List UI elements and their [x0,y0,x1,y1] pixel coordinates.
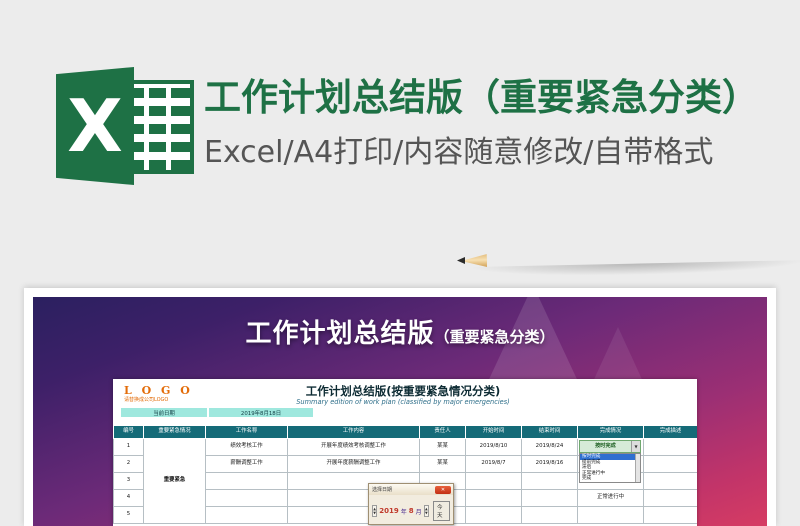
spreadsheet-preview[interactable]: L O G O 请替换成公司LOGO 工作计划总结版(按重要紧急情况分类) Su… [113,379,697,526]
excel-icon: X [56,62,194,188]
col-header-work-content[interactable]: 工作内容 [288,426,420,439]
cell-start[interactable]: 2019/8/10 [466,439,522,456]
col-header-owner[interactable]: 责任人 [420,426,466,439]
cell-end[interactable] [522,507,578,524]
pencil-lead [457,257,465,264]
cell-work-name[interactable]: 薪酬调整工作 [206,456,288,473]
cell-work-content[interactable]: 开展年度绩效考核调整工作 [288,439,420,456]
preview-headline: 工作计划总结版（重要紧急分类） [33,313,767,350]
cell-desc[interactable] [644,439,698,456]
cell-desc[interactable] [644,456,698,473]
chevron-down-icon[interactable]: ▼ [631,441,640,452]
page-title: 工作计划总结版（重要紧急分类） [204,72,764,124]
col-header-no[interactable]: 编号 [114,426,144,439]
excel-icon-letter: X [56,67,134,185]
table-row[interactable]: 1 重要紧急 绩效考核工作 开展年度绩效考核调整工作 某某 2019/8/10 … [114,439,698,456]
year-value: 2019 [379,507,398,515]
date-picker-body: ▲ ▼ 2019 年 8 月 ▲ ▼ 今天 [369,495,453,526]
year-stepper[interactable]: ▲ ▼ [372,505,377,517]
close-icon[interactable]: ✕ [435,486,451,494]
excel-icon-grid [124,80,194,174]
cell-end[interactable]: 2019/8/16 [522,456,578,473]
current-date-value[interactable]: 2019年8月18日 [208,407,314,418]
cell-no[interactable]: 5 [114,507,144,524]
date-picker-dialog[interactable]: 选择日期 ✕ ▲ ▼ 2019 年 8 月 ▲ [368,483,454,525]
current-date-row: 当前日期 2019年8月18日 [120,407,314,418]
preview-headline-main: 工作计划总结版 [245,319,434,349]
col-header-start[interactable]: 开始时间 [466,426,522,439]
cell-end[interactable] [522,490,578,507]
month-value: 8 [409,507,414,515]
cell-start[interactable] [466,490,522,507]
preview-card: 工作计划总结版（重要紧急分类） L O G O 请替换成公司LOGO 工作计划总… [24,288,776,526]
col-header-priority[interactable]: 重要紧急情况 [144,426,206,439]
current-date-label: 当前日期 [120,407,208,418]
cell-no[interactable]: 2 [114,456,144,473]
preview-canvas: 工作计划总结版（重要紧急分类） L O G O 请替换成公司LOGO 工作计划总… [33,297,767,526]
month-stepper[interactable]: ▲ ▼ [424,505,429,517]
cell-status-dropdown[interactable]: 按时完成 ▼ 按时完成 提前完成 滞后 正常进行中 完成 [578,439,644,456]
today-button[interactable]: 今天 [433,501,450,521]
cell-work-name[interactable] [206,490,288,507]
cell-start[interactable] [466,507,522,524]
cell-work-name[interactable] [206,507,288,524]
cell-start[interactable]: 2019/8/7 [466,456,522,473]
preview-headline-paren: （重要紧急分类） [435,328,555,346]
cell-no[interactable]: 1 [114,439,144,456]
stepper-down-icon[interactable]: ▼ [425,511,428,515]
status-select-value: 按时完成 [580,444,631,449]
cell-desc[interactable] [644,473,698,490]
status-badge[interactable]: 正常进行中 [578,490,644,507]
logo-text: L O G O [120,384,240,397]
date-picker-titlebar: 选择日期 ✕ [369,484,453,495]
header-banner: X 工作计划总结版（重要紧急分类） Excel/A4打印/内容随意修改/自带格式 [0,0,800,250]
year-label: 年 [401,507,407,516]
status-badge[interactable] [578,507,644,524]
stepper-down-icon[interactable]: ▼ [373,511,376,515]
month-label: 月 [416,507,422,516]
status-option-list[interactable]: 按时完成 提前完成 滞后 正常进行中 完成 [579,453,641,483]
col-header-desc[interactable]: 完成描述 [644,426,698,439]
date-picker-title: 选择日期 [372,486,392,493]
sheet-doc-subtitle: Summary edition of work plan (classified… [243,398,563,406]
cell-end[interactable] [522,473,578,490]
cell-priority-group[interactable]: 重要紧急 [144,439,206,524]
cell-no[interactable]: 3 [114,473,144,490]
cell-end[interactable]: 2019/8/24 [522,439,578,456]
table-header-row: 编号 重要紧急情况 工作名称 工作内容 责任人 开始时间 结束时间 完成情况 完… [114,426,698,439]
page-root: X 工作计划总结版（重要紧急分类） Excel/A4打印/内容随意修改/自带格式… [0,0,800,526]
col-header-work-name[interactable]: 工作名称 [206,426,288,439]
cell-no[interactable]: 4 [114,490,144,507]
cell-work-content[interactable]: 开展年度薪酬调整工作 [288,456,420,473]
sheet-doc-title: 工作计划总结版(按重要紧急情况分类) [243,383,563,399]
cell-owner[interactable]: 某某 [420,456,466,473]
cell-work-name[interactable] [206,473,288,490]
dropdown-scrollbar[interactable] [635,454,640,482]
cell-owner[interactable]: 某某 [420,439,466,456]
page-subtitle: Excel/A4打印/内容随意修改/自带格式 [204,132,779,174]
cell-start[interactable] [466,473,522,490]
sheet-header-area: L O G O 请替换成公司LOGO 工作计划总结版(按重要紧急情况分类) Su… [113,379,697,425]
logo-caption: 请替换成公司LOGO [120,397,240,404]
pencil-icon [455,248,800,274]
cell-desc[interactable] [644,507,698,524]
status-select[interactable]: 按时完成 ▼ [579,440,641,453]
cell-work-name[interactable]: 绩效考核工作 [206,439,288,456]
col-header-status[interactable]: 完成情况 [578,426,644,439]
col-header-end[interactable]: 结束时间 [522,426,578,439]
status-option[interactable]: 完成 [580,476,640,482]
company-logo: L O G O 请替换成公司LOGO [120,384,240,404]
cell-desc[interactable] [644,490,698,507]
